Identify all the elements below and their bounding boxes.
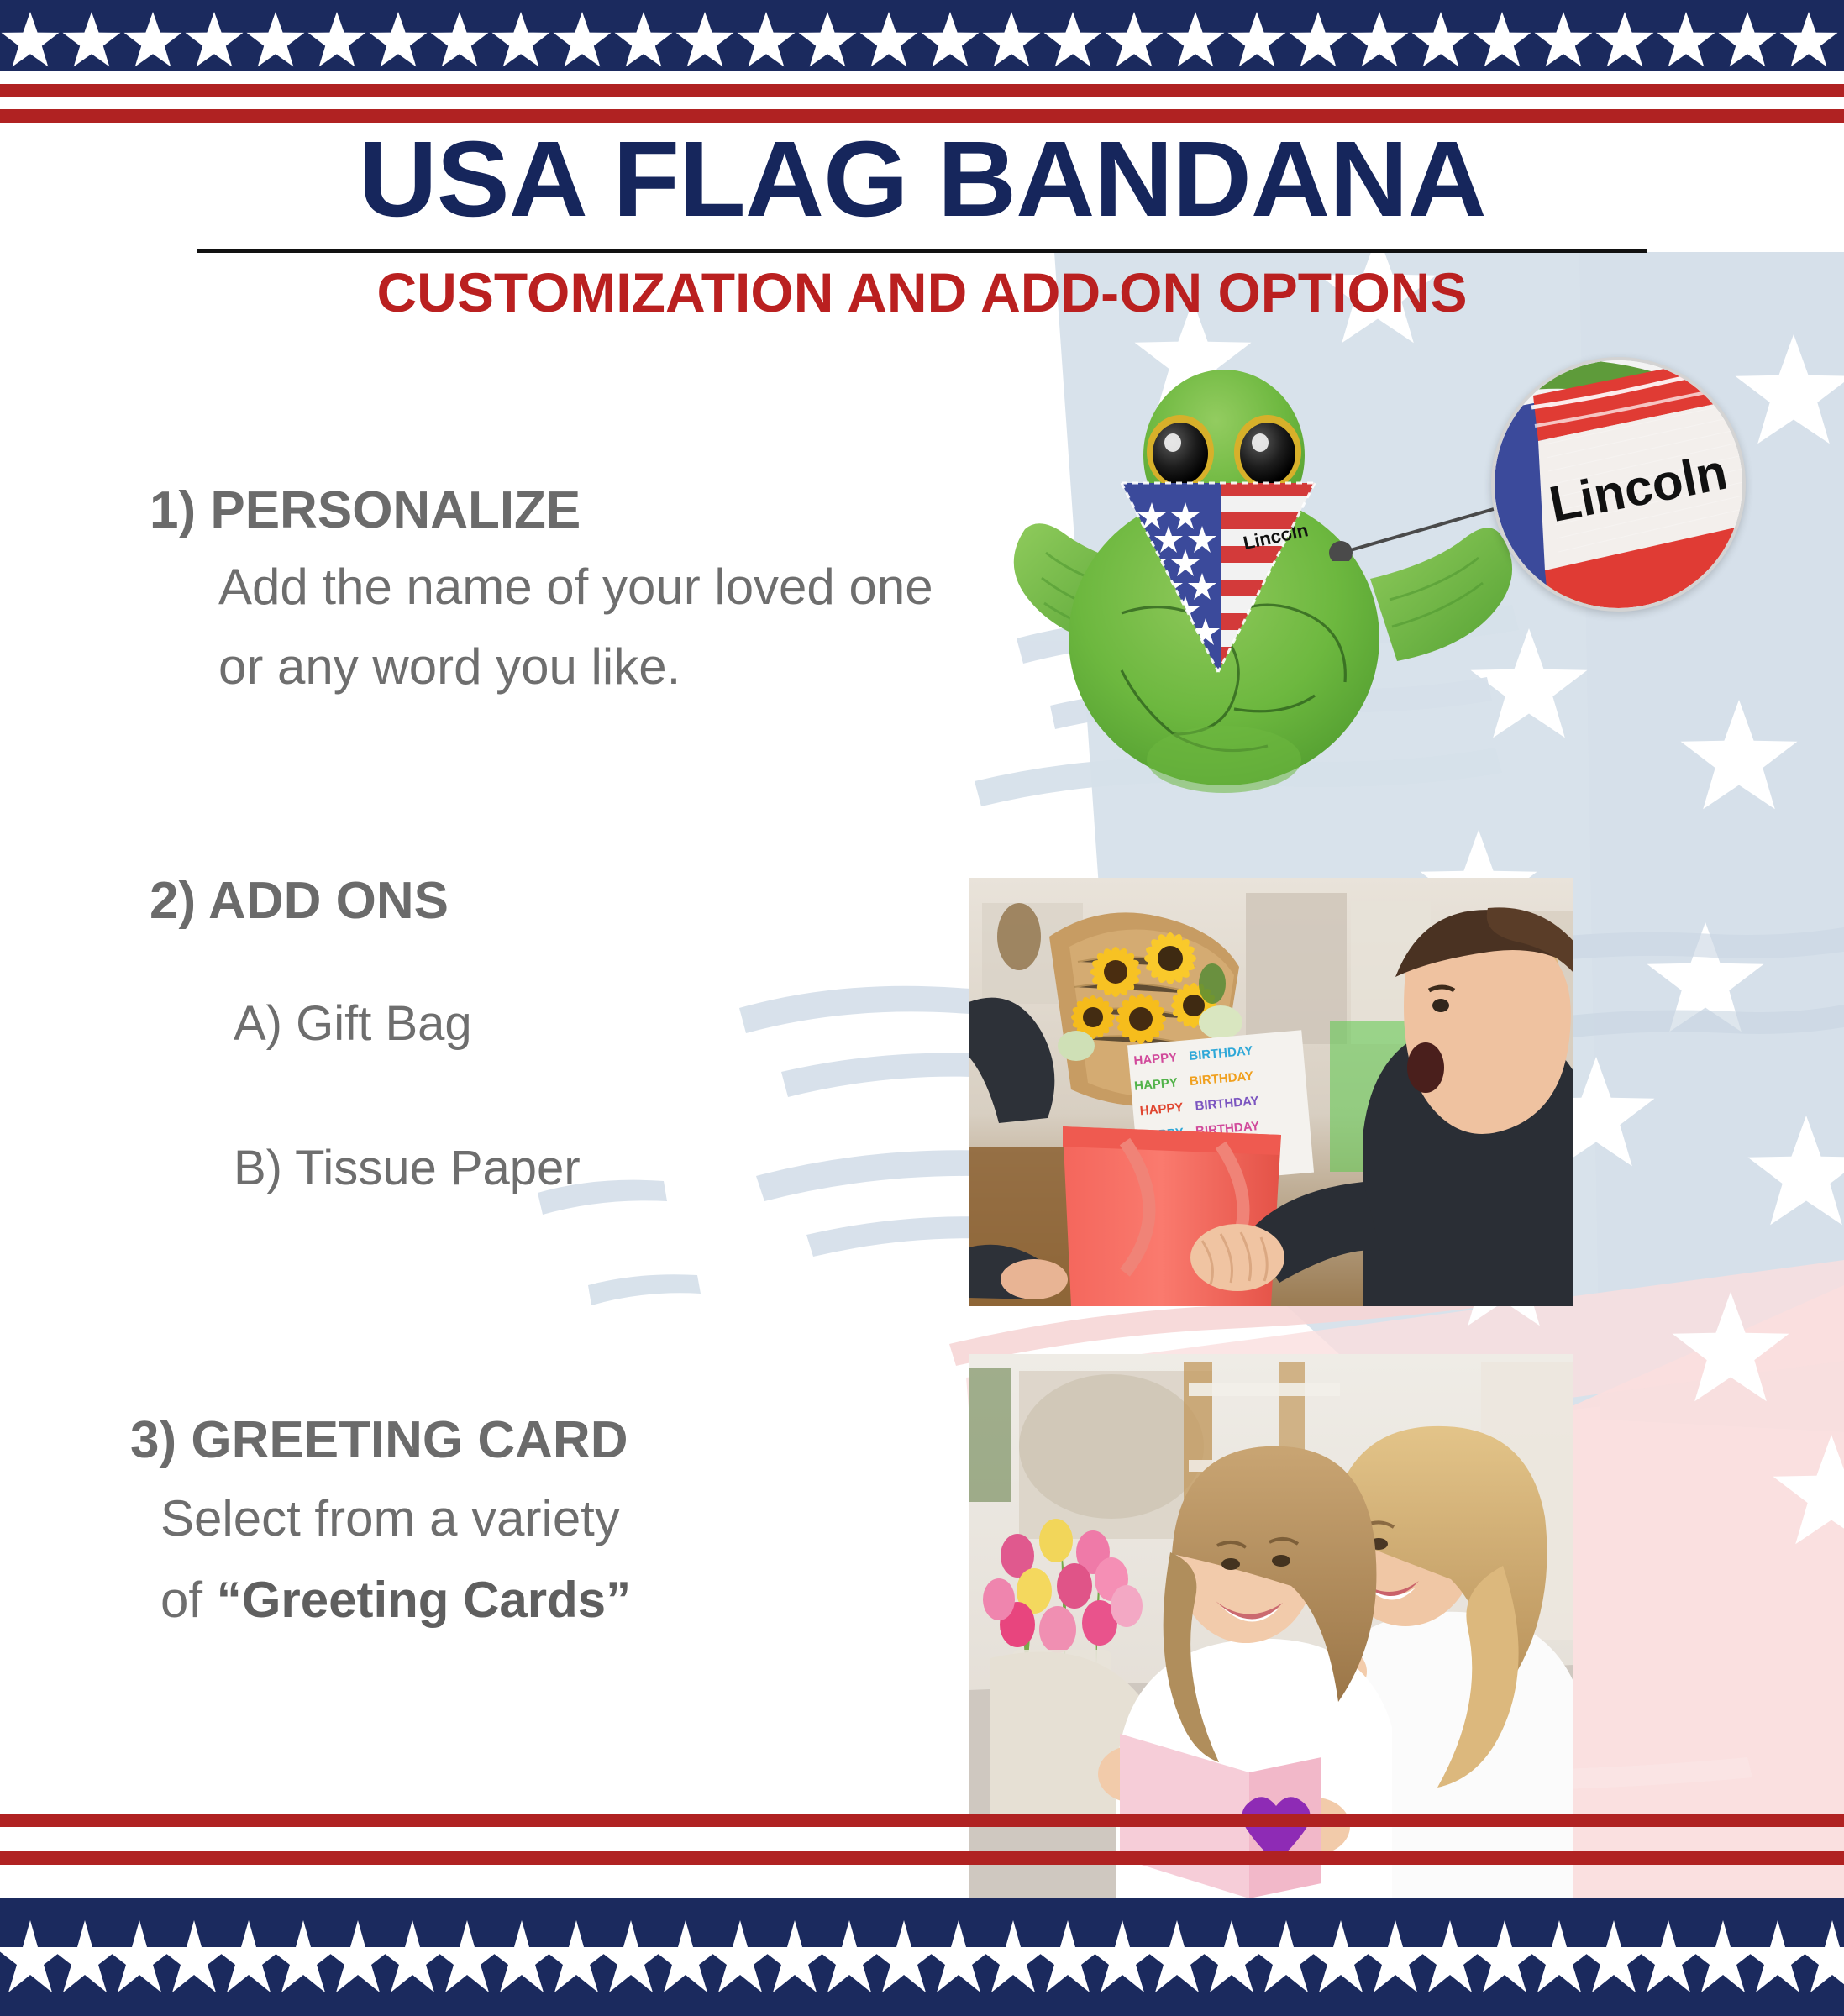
step-personalize-line2: or any word you like.	[150, 617, 933, 697]
gift-bag-photo-svg: HAPPYBIRTHDAY HAPPYBIRTHDAY HAPPYBIRTHDA…	[969, 878, 1573, 1306]
page-title: USA FLAG BANDANA	[0, 126, 1844, 234]
bottom-stars-svg	[0, 1898, 1844, 2016]
greeting-card-line2-prefix: of	[160, 1572, 217, 1628]
bottom-red-stripe-1	[0, 1814, 1844, 1827]
page-subtitle: CUSTOMIZATION AND ADD-ON OPTIONS	[0, 265, 1844, 320]
add-on-option-b: B) Tissue Paper	[234, 1144, 581, 1193]
header: USA FLAG BANDANA CUSTOMIZATION AND ADD-O…	[0, 126, 1844, 320]
step-personalize-heading: 1) PERSONALIZE	[150, 483, 933, 538]
top-red-stripe-1	[0, 84, 1844, 97]
add-on-option-a: A) Gift Bag	[234, 1000, 472, 1048]
gift-bag-photo: HAPPYBIRTHDAY HAPPYBIRTHDAY HAPPYBIRTHDA…	[969, 878, 1573, 1306]
callout-zoom-svg: Lincoln	[1495, 360, 1742, 608]
step-greeting-card-line2: of “Greeting Cards”	[130, 1549, 631, 1630]
turtle-plush-svg: Lincoln	[996, 361, 1533, 823]
step-personalize: 1) PERSONALIZE Add the name of your love…	[150, 483, 933, 697]
title-divider-rule	[197, 249, 1647, 253]
turtle-right-flipper	[1370, 528, 1512, 661]
infographic-page: USA FLAG BANDANA CUSTOMIZATION AND ADD-O…	[0, 0, 1844, 2016]
step-add-ons: 2) ADD ONS	[150, 874, 449, 928]
bottom-red-stripe-2	[0, 1851, 1844, 1865]
step-greeting-card-heading: 3) GREETING CARD	[130, 1413, 631, 1467]
step-greeting-card-line1: Select from a variety	[130, 1467, 631, 1549]
greeting-card-quoted-label: “Greeting Cards”	[217, 1572, 631, 1628]
step-greeting-card: 3) GREETING CARD Select from a variety o…	[130, 1413, 631, 1630]
top-stars-svg	[0, 0, 1844, 71]
turtle-plush-product-image: Lincoln	[996, 361, 1533, 823]
step-add-ons-heading: 2) ADD ONS	[150, 874, 449, 928]
bottom-star-band	[0, 1898, 1844, 2016]
step-personalize-line1: Add the name of your loved one	[150, 538, 933, 617]
top-star-band	[0, 0, 1844, 71]
personalization-zoom-callout: Lincoln	[1491, 357, 1746, 612]
